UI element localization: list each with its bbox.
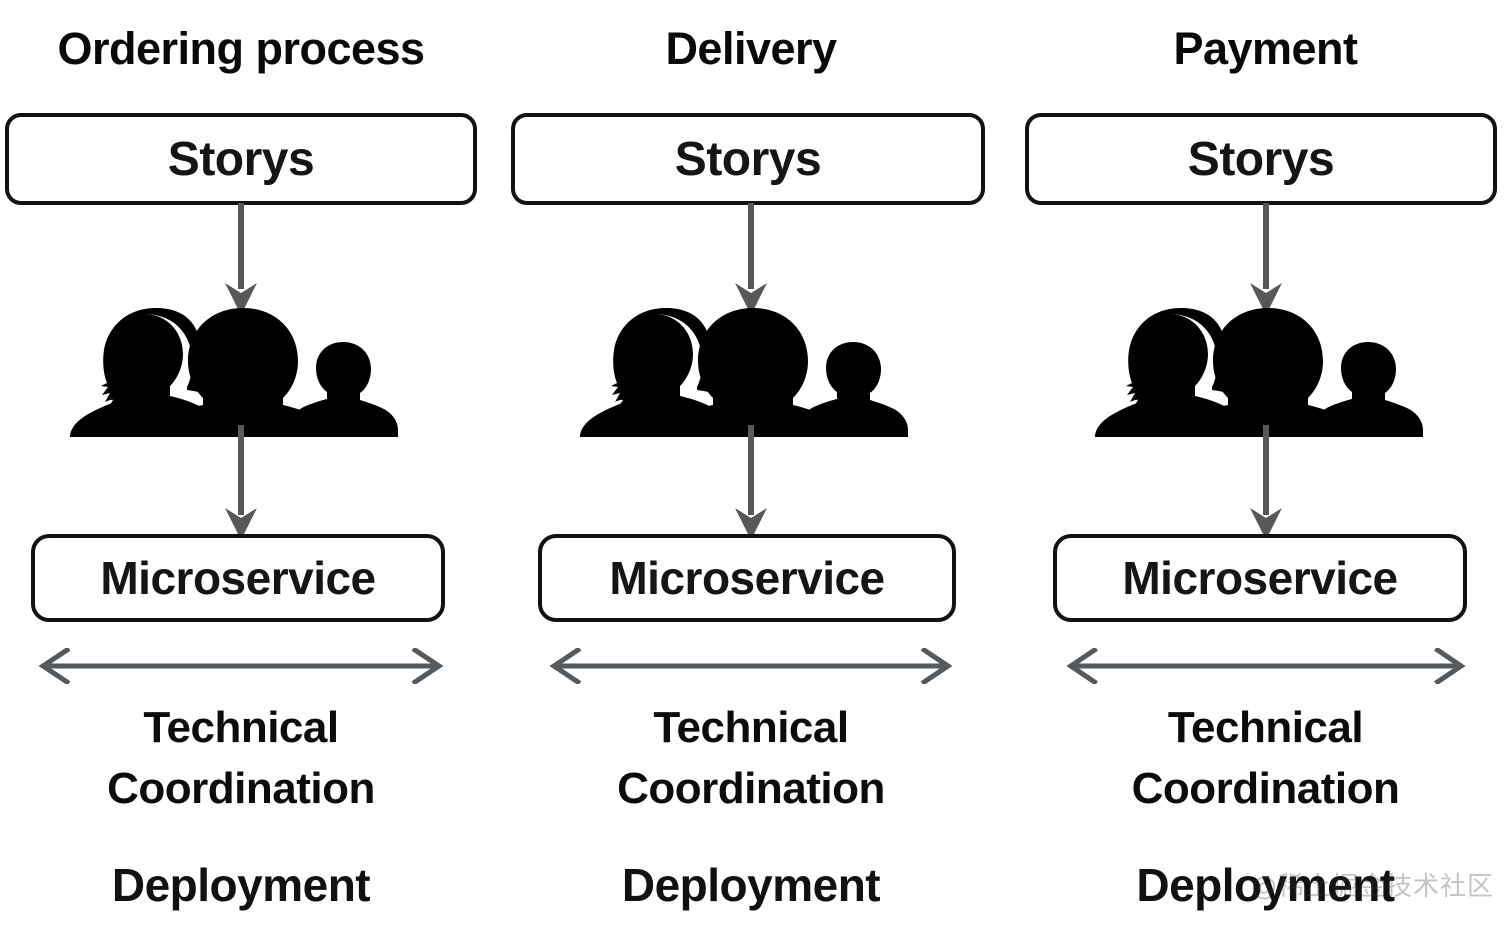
column-header-payment: Payment [1019,26,1512,71]
watermark: @稀土掘金技术社区 [1251,866,1494,903]
coordination-line-1: Technical [1019,698,1512,759]
coordination-line-2: Coordination [0,759,482,820]
technical-coordination-label-payment: Technical Coordination [1019,698,1512,819]
microservice-label: Microservice [100,551,375,605]
coordination-line-2: Coordination [505,759,997,820]
arrow-storys-to-team-ordering-process [221,203,261,315]
technical-coordination-span-arrow-ordering-process [31,648,451,684]
three-people-silhouette-icon [66,306,416,438]
microservice-box-delivery[interactable]: Microservice [538,534,956,622]
storys-box-delivery[interactable]: Storys [511,113,985,205]
arrow-storys-to-team-payment [1246,203,1286,315]
microservice-box-payment[interactable]: Microservice [1053,534,1467,622]
arrow-team-to-microservice-payment [1246,425,1286,540]
storys-box-ordering-process[interactable]: Storys [5,113,477,205]
technical-coordination-label-delivery: Technical Coordination [505,698,997,819]
column-delivery: Delivery Storys [505,0,997,929]
three-people-silhouette-icon [576,306,926,438]
coordination-line-2: Coordination [1019,759,1512,820]
storys-box-payment[interactable]: Storys [1025,113,1497,205]
deployment-label-ordering-process: Deployment [0,862,482,908]
storys-label: Storys [675,132,821,187]
arrow-storys-to-team-delivery [731,203,771,315]
technical-coordination-label-ordering-process: Technical Coordination [0,698,482,819]
arrow-team-to-microservice-delivery [731,425,771,540]
technical-coordination-span-arrow-delivery [542,648,960,684]
coordination-line-1: Technical [505,698,997,759]
deployment-label-delivery: Deployment [505,862,997,908]
microservice-label: Microservice [609,551,884,605]
column-ordering-process: Ordering process Storys [0,0,482,929]
storys-label: Storys [1188,132,1334,187]
microservice-box-ordering-process[interactable]: Microservice [31,534,445,622]
technical-coordination-span-arrow-payment [1059,648,1473,684]
arrow-team-to-microservice-ordering-process [221,425,261,540]
three-people-silhouette-icon [1091,306,1441,438]
diagram-canvas: Ordering process Storys [0,0,1512,929]
storys-label: Storys [168,132,314,187]
column-header-ordering-process: Ordering process [0,26,482,71]
microservice-label: Microservice [1122,551,1397,605]
column-payment: Payment Storys [1019,0,1512,929]
coordination-line-1: Technical [0,698,482,759]
column-header-delivery: Delivery [505,26,997,71]
